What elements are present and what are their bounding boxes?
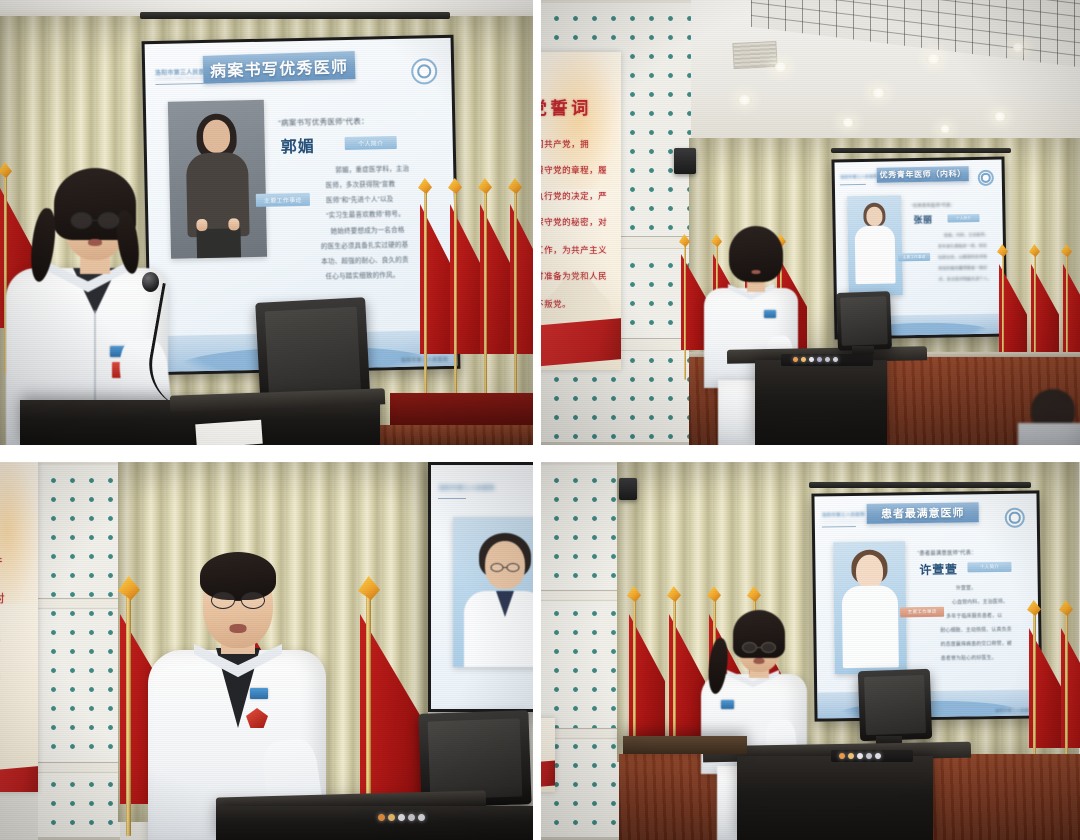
ceiling-downlight: [993, 112, 1007, 121]
ceiling-vent: [732, 41, 777, 69]
flag-pole: [424, 190, 427, 405]
stage-wall-base: [390, 393, 533, 427]
speech-paper: [195, 420, 263, 445]
oath-line: 我志愿加入中国共产党，拥: [541, 138, 589, 150]
portrait-eyeglasses: [491, 563, 520, 572]
indicator-orange[interactable]: [793, 357, 798, 362]
flag-finial-icon: [997, 244, 1008, 257]
flag-finial-icon: [358, 576, 380, 600]
flag-finial-icon: [448, 178, 462, 194]
indicator-white[interactable]: [857, 753, 863, 759]
slide-body-line: 患者誉为贴心的好医生。: [941, 654, 997, 662]
slide-bottom-left: 洛阳市第三人民医院: [431, 465, 533, 709]
lens-left: [491, 563, 504, 572]
flag-group-right: [1027, 588, 1080, 778]
lens-right: [98, 212, 120, 229]
lens-left: [71, 212, 93, 229]
slide-title-bar: 优秀青年医师（内科）: [877, 166, 969, 183]
portrait-hand: [196, 219, 207, 231]
lens-left: [211, 592, 235, 609]
wall-projector-mount: [619, 478, 637, 500]
slide-brand: 洛阳市第三人民医院: [822, 512, 865, 519]
podium-button-lights: [378, 814, 425, 821]
hospital-logo-icon: [411, 58, 438, 85]
flag-finial-icon: [1029, 244, 1040, 257]
podium: [755, 360, 887, 445]
podium-monitor: [858, 669, 932, 741]
slide-awardee-name: 张丽: [913, 213, 932, 226]
oath-line: 人民: [0, 666, 1, 682]
slide-body-line: 钻研业务，以精湛的技术和: [938, 254, 987, 261]
flag-finial-icon: [418, 178, 432, 194]
indicator-silver[interactable]: [833, 357, 838, 362]
photo-top-left: 洛阳市第三人民医院 LUOYANG THIRD PEOPLE'S HOSPITA…: [0, 0, 533, 445]
slide-chip-profile-label: 个人简介: [358, 138, 383, 148]
flag-finial-icon: [747, 586, 761, 602]
photo-bottom-left: 拥 领 ，产 ，对 主义 人民 洛阳市第三人民医院: [0, 462, 533, 840]
ceiling-downlight: [926, 54, 941, 64]
slide-chip-profile: 个人简介: [967, 562, 1011, 573]
eyeglasses: [742, 642, 776, 653]
slide-body-line: 热忱的服务赢得患者一致好: [938, 265, 987, 272]
indicator-orange[interactable]: [839, 753, 845, 759]
oath-line: 护党的纲领，遵守党的章程，履: [541, 164, 607, 176]
portrait-body: [464, 591, 533, 667]
oath-line: ，产: [0, 554, 3, 570]
lens-left: [742, 642, 757, 653]
oath-line: 党忠诚，积极工作，为共产主义: [541, 244, 607, 256]
oath-red-stripe: [541, 318, 621, 368]
flag-finial-icon: [679, 234, 690, 247]
slide-body-line: 任心与踏实细致的作风。: [325, 269, 399, 281]
slide-body-line: 医师”和“先进个人”以及: [326, 193, 394, 204]
slide-chip-deeds-label: 主要工作事迹: [903, 254, 926, 259]
slide-chip-deeds-label: 主要工作事迹: [264, 195, 302, 205]
slide-body-line: 郭媚，重症医学科，主治: [335, 163, 409, 175]
acoustic-panel-seam: [38, 762, 120, 773]
oath-line: 守党的纪律，保守党的秘密，对: [541, 216, 607, 228]
slide-body-line: 的态度赢得病患的交口称赞，被: [940, 640, 1011, 648]
ceiling-downlight: [939, 125, 951, 133]
slide-awardee-name: 许萱萱: [919, 561, 957, 579]
mouth: [230, 624, 247, 633]
podium: [216, 806, 533, 840]
slide-chip-profile: 个人简介: [345, 136, 397, 150]
slide-body-line: 许萱萱，: [956, 584, 977, 591]
ceiling-downlight: [871, 88, 886, 98]
ceiling-downlight: [773, 62, 788, 72]
slide-body-line: 张丽，内科，主治医师，: [944, 232, 989, 239]
slide-chip-profile-label: 个人简介: [956, 216, 971, 221]
lens-right: [507, 563, 520, 572]
slide-chip-deeds: 主要工作事迹: [898, 253, 930, 262]
portrait-hand: [228, 218, 239, 230]
flag-finial-icon: [707, 586, 721, 602]
eyeglasses: [71, 212, 120, 229]
slide-body-line: 心血管内科，主治医师。: [952, 598, 1008, 606]
slide-body-line: 她始终要想成为一名合格: [330, 224, 404, 236]
slide-title: 患者最满意医师: [881, 504, 964, 521]
portrait-body: [842, 585, 899, 668]
slide-title-bar: 病案书写优秀医师: [203, 51, 356, 84]
slide-brand-rule: [840, 184, 866, 185]
slide-body-line: 耐心细致、主动热情、认真负责: [940, 626, 1011, 634]
photo-collage: 洛阳市第三人民医院 LUOYANG THIRD PEOPLE'S HOSPITA…: [0, 0, 1080, 840]
name-badge: [764, 310, 776, 318]
hospital-logo-icon: [978, 170, 994, 186]
slide-body-line: 本功、超强的耐心、良久的责: [321, 254, 409, 266]
slide-brand-rule: [438, 498, 466, 499]
flag-finial-icon: [627, 586, 641, 602]
indicator-white[interactable]: [809, 357, 814, 362]
flag-finial-icon: [667, 586, 681, 602]
flag-pole: [484, 190, 487, 405]
portrait-body: [855, 225, 896, 284]
slide-body-line: 多年于临床服务患者，以: [946, 612, 1002, 620]
flag-finial-icon: [478, 178, 492, 194]
slide-brand-rule: [155, 83, 203, 85]
slide-title: 病案书写优秀医师: [210, 53, 349, 81]
monitor-screen: [864, 675, 927, 736]
indicator-orange[interactable]: [378, 814, 385, 821]
party-oath-banner-edge: [541, 718, 555, 792]
indicator-grey[interactable]: [825, 357, 830, 362]
podium-button-lights: [793, 357, 838, 362]
portrait-head: [203, 119, 231, 153]
oath-line: 主义: [0, 628, 1, 644]
slide-chip-profile: 个人简介: [947, 214, 979, 223]
hospital-logo-icon: [1005, 508, 1025, 528]
slide-body-line: 多年来扎根临床一线，刻苦: [938, 243, 987, 250]
flag-pole: [684, 244, 686, 380]
acoustic-wall-panel: [38, 462, 120, 840]
monitor-stand: [852, 346, 874, 354]
red-flag: [1061, 628, 1080, 748]
slide-title-bar: 患者最满意医师: [867, 502, 979, 524]
indicator-silver[interactable]: [418, 814, 425, 821]
slide-caption: “患者最满意医师”代表：: [917, 548, 977, 557]
slide-caption: “优秀青年医师”代表：: [911, 202, 955, 209]
slide-title: 优秀青年医师（内科）: [879, 168, 966, 181]
slide-chip-deeds-label: 主要工作事迹: [908, 609, 937, 615]
flag-finial-icon: [1027, 600, 1041, 616]
screen-roller: [809, 482, 1031, 488]
mouth: [754, 658, 765, 664]
audience-member: [1018, 389, 1080, 445]
slide-brand: 洛阳市第三人民医院: [438, 483, 494, 492]
flag-pole: [454, 190, 457, 405]
slide-chip-profile-label: 个人简介: [980, 564, 999, 570]
photo-bottom-right: 洛阳市第三人民医院 LUOYANG THIRD PEOPLE'S HOSPITA…: [541, 462, 1080, 840]
oath-red-stripe: [0, 766, 38, 792]
podium: [737, 756, 933, 840]
name-badge: [721, 700, 734, 709]
ceiling-downlight: [841, 118, 855, 127]
ceiling-downlight: [1011, 43, 1025, 52]
name-badge: [250, 688, 268, 699]
oath-red-stripe: [541, 761, 555, 790]
slide-body-line: 医师，多次获得院“宣教: [325, 178, 395, 189]
photo-top-right: 入党誓词 我志愿加入中国共产党，拥 护党的纲领，遵守党的章程，履 行党员义务，执…: [541, 0, 1080, 445]
slide-body-line: 评，多次获评院级先进个人。: [939, 276, 992, 283]
screen-roller: [831, 148, 1011, 153]
flag-finial-icon: [1061, 244, 1072, 257]
flag-finial-icon: [118, 576, 140, 600]
microphone-head: [142, 272, 159, 292]
screen-roller: [140, 12, 450, 19]
oath-line: ，对: [0, 590, 5, 606]
mouth: [752, 270, 761, 274]
slide-body-line: “实习生最喜欢教师”称号。: [326, 208, 405, 220]
slide-caption: “病案书写优秀医师”代表：: [278, 116, 369, 129]
indicator-white[interactable]: [398, 814, 405, 821]
lens-right: [761, 642, 776, 653]
indicator-silver[interactable]: [875, 753, 881, 759]
portrait-head: [866, 207, 882, 226]
indicator-grey[interactable]: [408, 814, 415, 821]
slide-body-line: 的医生必须具备扎实过硬的基: [321, 239, 409, 251]
flag-finial-icon: [1059, 600, 1073, 616]
slide-brand-rule: [822, 526, 856, 527]
wall-projector-mount: [674, 148, 696, 174]
acoustic-panel-seam: [541, 590, 619, 601]
flag-finial-icon: [508, 178, 522, 194]
flag-group-right: [418, 150, 533, 410]
indicator-violet[interactable]: [817, 357, 822, 362]
slide-portrait-photo: [847, 195, 903, 296]
party-oath-banner: 拥 领 ，产 ，对 主义 人民: [0, 462, 38, 792]
portrait-head: [856, 555, 883, 589]
slide-portrait-photo: [833, 541, 907, 674]
indicator-grey[interactable]: [866, 753, 872, 759]
oath-line: 行党员义务，执行党的决定，严: [541, 190, 607, 202]
slide-brand: 洛阳市第三人民医院: [840, 174, 878, 181]
side-table: [623, 736, 747, 754]
indicator-amber[interactable]: [388, 814, 395, 821]
indicator-amber[interactable]: [801, 357, 806, 362]
podium-button-lights: [839, 753, 881, 759]
monitor-screen: [840, 296, 887, 346]
flag-pole: [126, 596, 131, 836]
oath-title: 入党誓词: [541, 94, 592, 119]
podium-monitor: [836, 291, 892, 351]
party-oath-banner: 入党誓词 我志愿加入中国共产党，拥 护党的纲领，遵守党的章程，履 行党员义务，执…: [541, 52, 621, 370]
lens-right: [241, 592, 265, 609]
eyeglasses: [211, 592, 265, 609]
monitor-screen: [427, 718, 522, 800]
indicator-amber[interactable]: [848, 753, 854, 759]
slide-portrait-photo: [453, 517, 533, 667]
slide-chip-deeds: 主要工作事迹: [900, 607, 944, 618]
slide-chip-deeds: 主要工作事迹: [256, 193, 310, 207]
portrait-legs: [196, 228, 241, 258]
ceiling-downlight: [737, 95, 752, 105]
projection-screen-frame: 洛阳市第三人民医院: [428, 462, 533, 712]
mouth: [88, 239, 102, 246]
flag-pole: [514, 190, 517, 405]
shoulder: [1018, 423, 1080, 445]
projection-screen: 洛阳市第三人民医院: [431, 465, 533, 709]
slide-awardee-name: 郭媚: [280, 133, 314, 158]
acoustic-panel-seam: [38, 598, 120, 609]
